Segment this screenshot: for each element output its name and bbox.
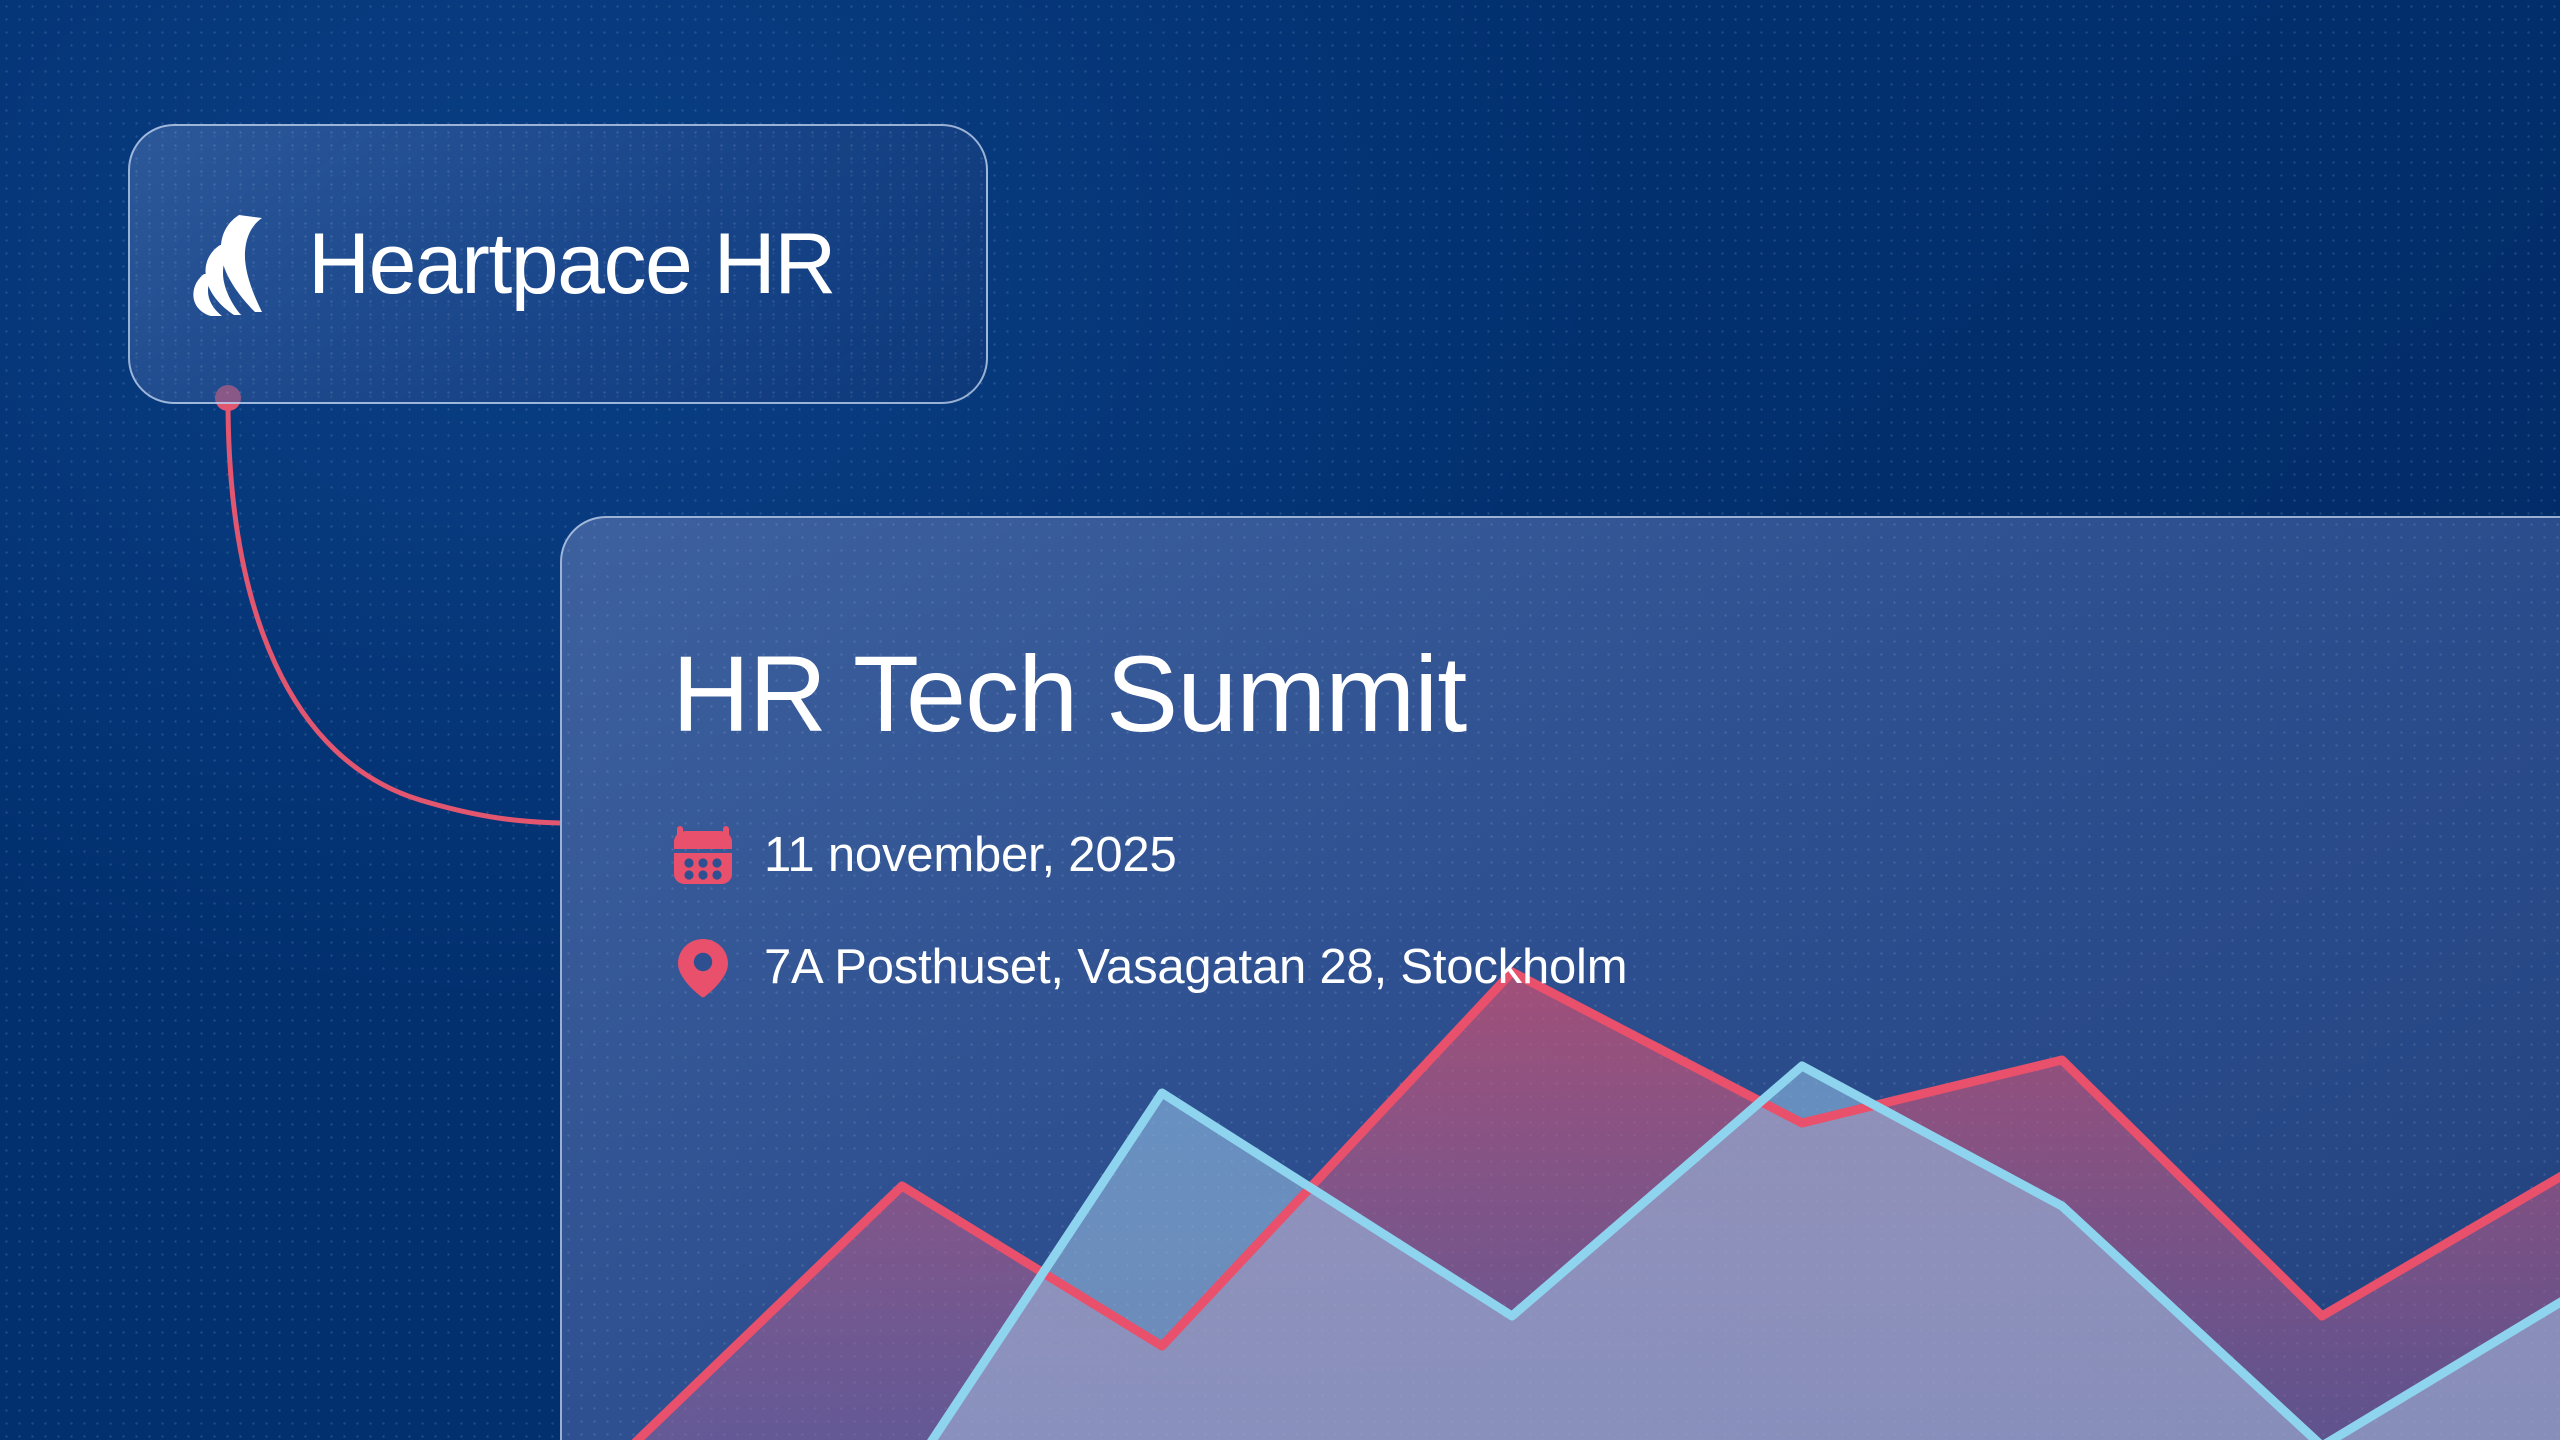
map-pin-icon bbox=[672, 936, 734, 998]
heartpace-fan-logo-icon bbox=[192, 212, 278, 316]
event-card: HR Tech Summit 11 no bbox=[560, 516, 2560, 1440]
event-date-text: 11 november, 2025 bbox=[764, 831, 1177, 880]
connector-path bbox=[228, 400, 560, 823]
chart-blue-line bbox=[562, 1066, 2560, 1440]
calendar-icon bbox=[672, 824, 734, 886]
brand-logo-card[interactable]: Heartpace HR bbox=[128, 124, 988, 404]
event-card-content: HR Tech Summit 11 no bbox=[562, 518, 2560, 998]
chart-pink-line bbox=[562, 972, 2560, 1440]
event-location-text: 7A Posthuset, Vasagatan 28, Stockholm bbox=[764, 943, 1627, 992]
brand-name: Heartpace HR bbox=[308, 221, 835, 307]
event-date-row: 11 november, 2025 bbox=[672, 824, 2560, 886]
poster-canvas: Heartpace HR bbox=[0, 0, 2560, 1440]
event-location-row: 7A Posthuset, Vasagatan 28, Stockholm bbox=[672, 936, 2560, 998]
event-meta-list: 11 november, 2025 7A Posthuset, Vasagata… bbox=[672, 824, 2560, 998]
page-title: HR Tech Summit bbox=[672, 638, 2560, 750]
chart-pink-area bbox=[562, 972, 2560, 1440]
chart-blue-area bbox=[562, 1066, 2560, 1440]
brand-lockup: Heartpace HR bbox=[192, 212, 835, 316]
